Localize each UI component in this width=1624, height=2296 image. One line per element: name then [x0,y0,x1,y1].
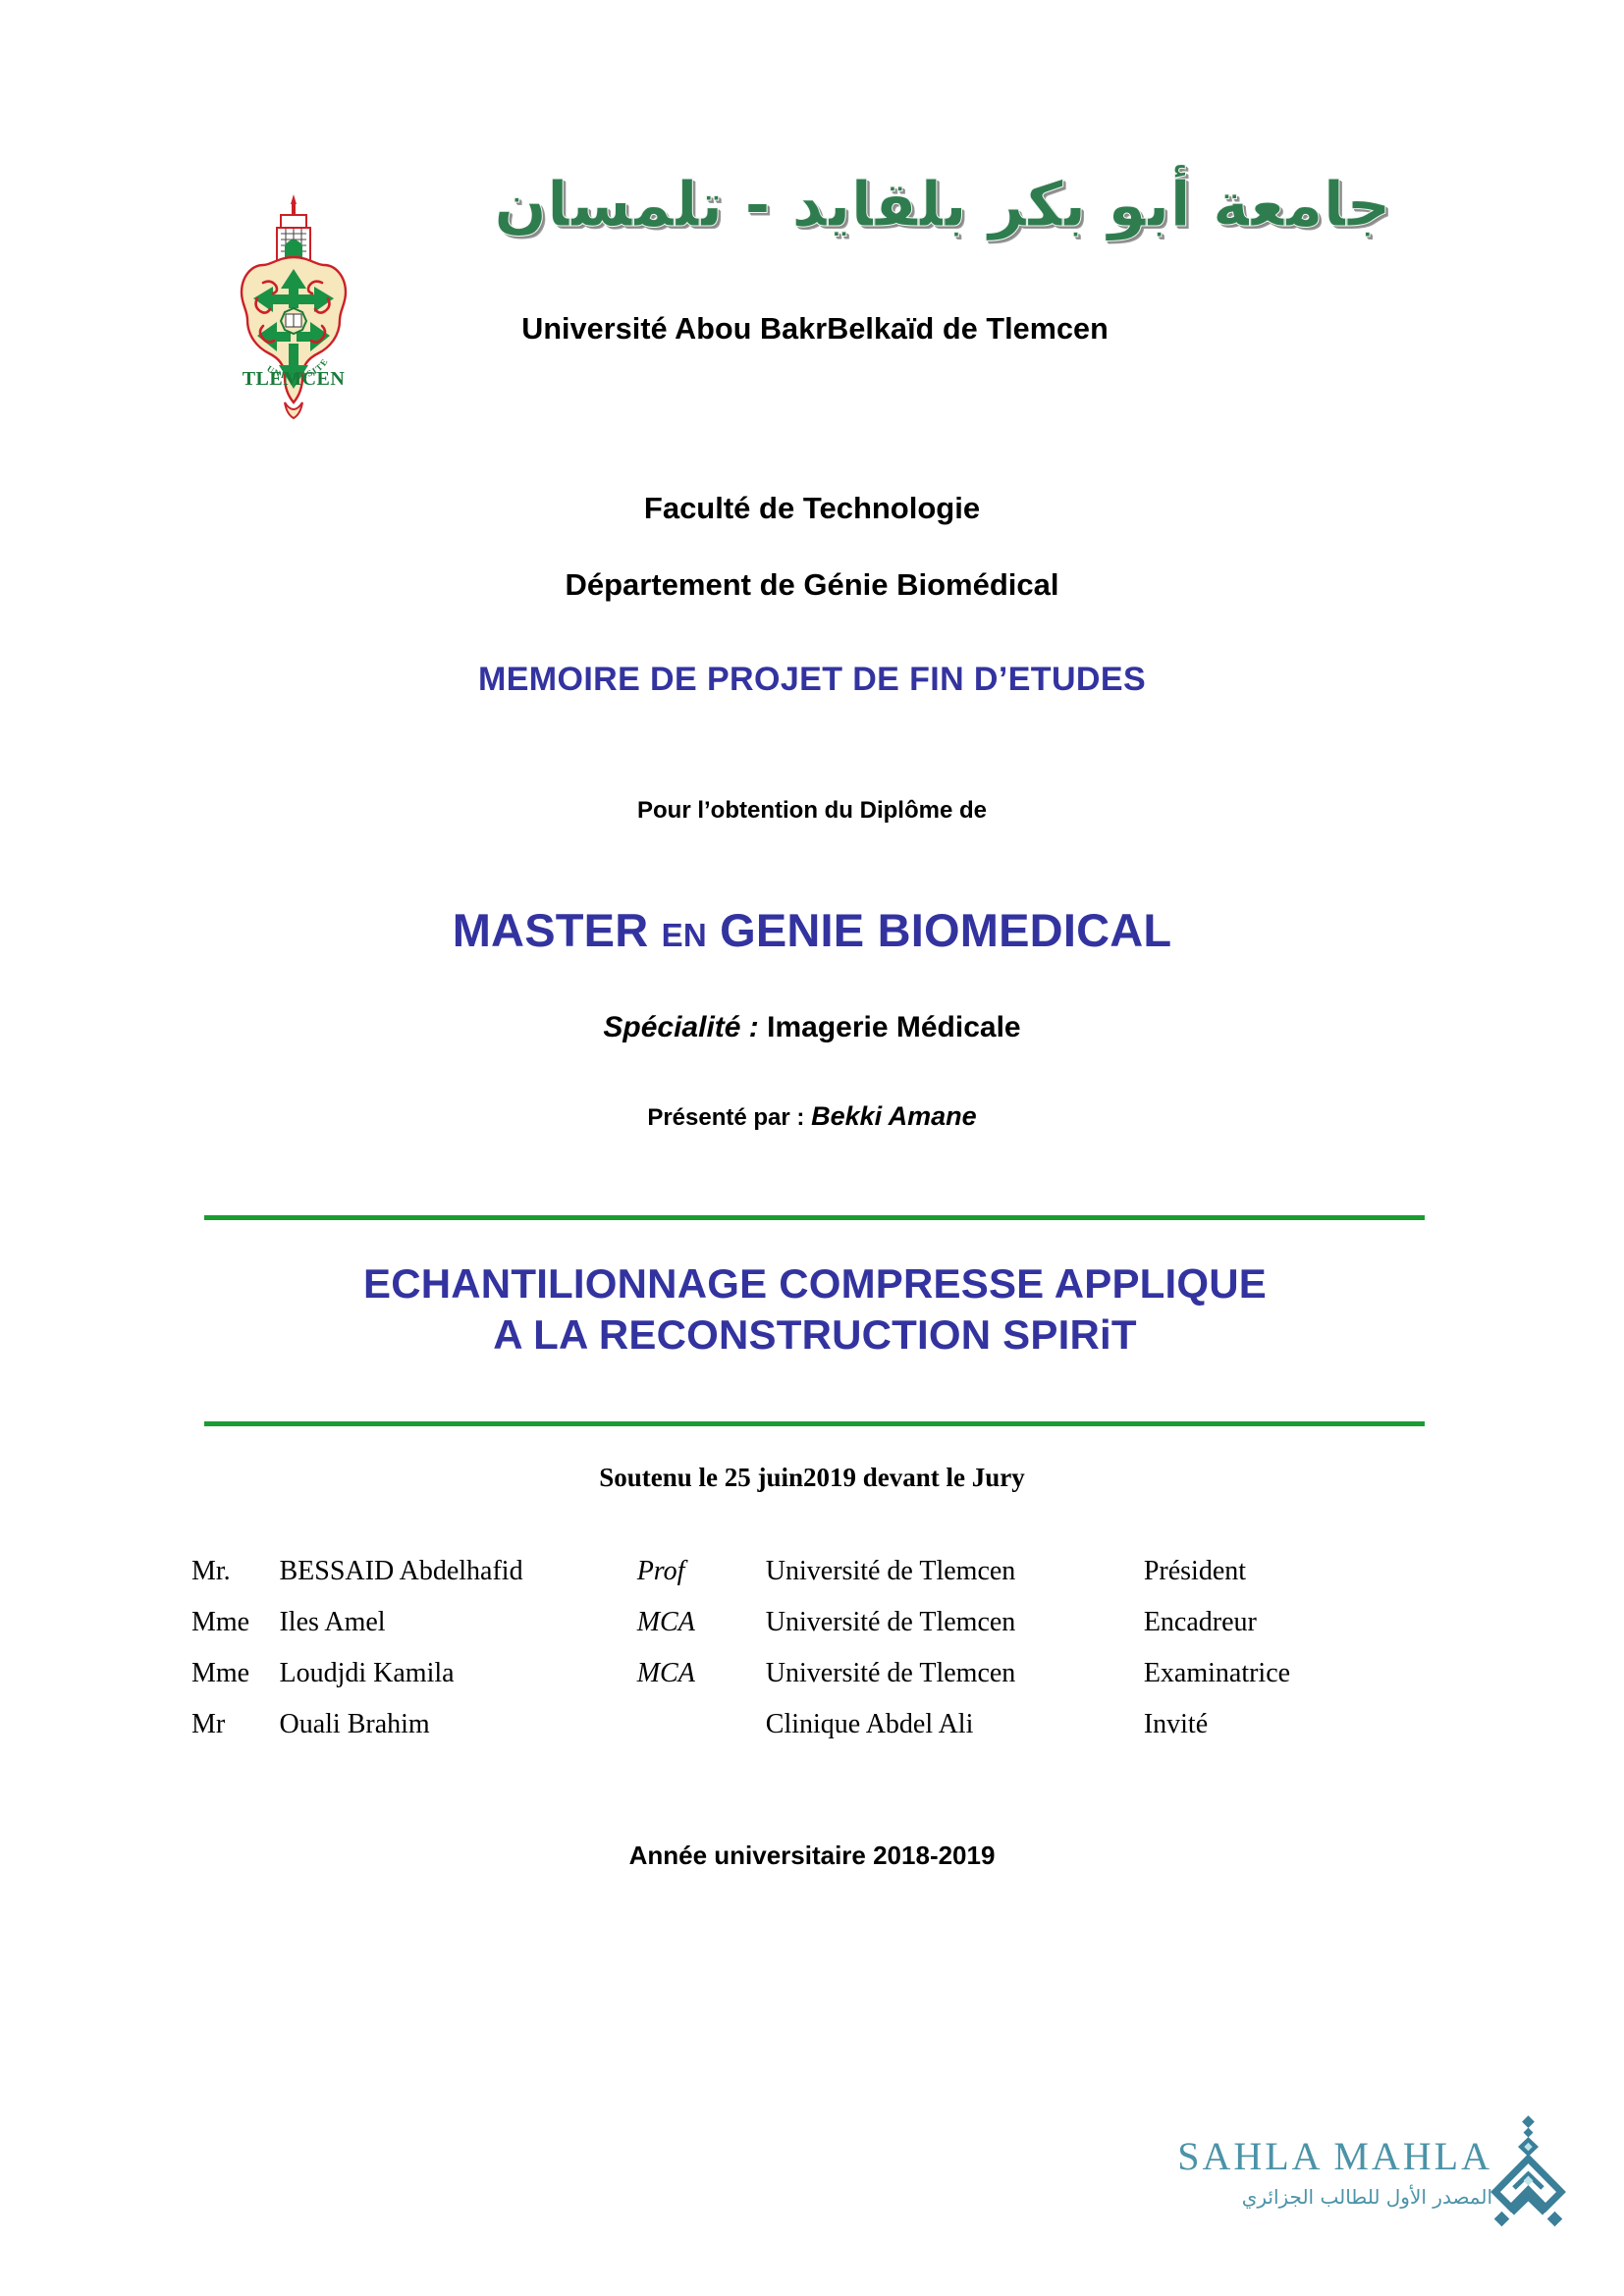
watermark-tagline: المصدر الأول للطالب الجزائري [1110,2182,1492,2212]
jury-name: Loudjdi Kamila [279,1658,636,1709]
presented-by-label: Présenté par : [647,1104,804,1131]
specialty-value: Imagerie Médicale [767,1011,1020,1043]
department-name: Département de Génie Biomédical [0,567,1624,603]
sahla-mahla-watermark: SAHLA MAHLA المصدر الأول للطالب الجزائري [1110,2115,1571,2263]
title-rule-bottom [204,1421,1425,1426]
table-row: Mme Iles Amel MCA Université de Tlemcen … [191,1607,1399,1658]
jury-civility: Mme [191,1658,279,1709]
jury-name: BESSAID Abdelhafid [279,1556,636,1607]
university-name: Université Abou BakrBelkaïd de Tlemcen [295,312,1335,347]
jury-institution: Université de Tlemcen [766,1607,1144,1658]
arabic-university-title: جامعة أبو بكر بلقايد - تلمسان [452,167,1434,244]
jury-grade: Prof [637,1556,766,1607]
jury-table: Mr. BESSAID Abdelhafid Prof Université d… [191,1556,1399,1760]
jury-role: Président [1144,1556,1399,1607]
thesis-cover-page: UNIVERSITE TLEMCEN جامعة أبو بكر بلقايد … [0,0,1624,2296]
jury-name: Ouali Brahim [279,1709,636,1760]
table-row: Mr Ouali Brahim Clinique Abdel Ali Invit… [191,1709,1399,1760]
logo-text-tlemcen: TLEMCEN [243,368,346,390]
jury-institution: Clinique Abdel Ali [766,1709,1144,1760]
defense-statement: Soutenu le 25 juin2019 devant le Jury [0,1463,1624,1493]
jury-role: Invité [1144,1709,1399,1760]
jury-grade [637,1709,766,1760]
degree-purpose-text: Pour l’obtention du Diplôme de [0,797,1624,825]
jury-name: Iles Amel [279,1607,636,1658]
watermark-text-block: SAHLA MAHLA المصدر الأول للطالب الجزائري [1110,2137,1492,2212]
author-line: Présenté par : Bekki Amane [0,1101,1624,1132]
specialty-label: Spécialité : [603,1011,758,1043]
jury-grade: MCA [637,1607,766,1658]
thesis-title-line-1: ECHANTILIONNAGE COMPRESSE APPLIQUE [147,1258,1483,1309]
watermark-brand: SAHLA MAHLA [1110,2137,1492,2176]
jury-civility: Mr. [191,1556,279,1607]
author-name: Bekki Amane [811,1101,977,1131]
jury-civility: Mme [191,1607,279,1658]
university-tlemcen-logo-icon: UNIVERSITE TLEMCEN [234,188,353,419]
table-row: Mr. BESSAID Abdelhafid Prof Université d… [191,1556,1399,1607]
jury-role: Encadreur [1144,1607,1399,1658]
academic-year: Année universitaire 2018-2019 [0,1841,1624,1871]
thesis-title: ECHANTILIONNAGE COMPRESSE APPLIQUE A LA … [147,1258,1483,1361]
thesis-title-line-2: A LA RECONSTRUCTION SPIRiT [147,1309,1483,1361]
sahla-mahla-diamond-icon [1485,2115,1571,2233]
jury-institution: Université de Tlemcen [766,1658,1144,1709]
document-kind-heading: MEMOIRE DE PROJET DE FIN D’ETUDES [0,661,1624,699]
page-header: UNIVERSITE TLEMCEN جامعة أبو بكر بلقايد … [0,167,1624,422]
title-rule-top [204,1215,1425,1220]
jury-institution: Université de Tlemcen [766,1556,1144,1607]
faculty-name: Faculté de Technologie [0,491,1624,526]
specialty-line: Spécialité : Imagerie Médicale [0,1011,1624,1044]
jury-grade: MCA [637,1658,766,1709]
jury-role: Examinatrice [1144,1658,1399,1709]
table-row: Mme Loudjdi Kamila MCA Université de Tle… [191,1658,1399,1709]
degree-title: MASTER en GENIE BIOMEDICAL [0,903,1624,957]
jury-civility: Mr [191,1709,279,1760]
